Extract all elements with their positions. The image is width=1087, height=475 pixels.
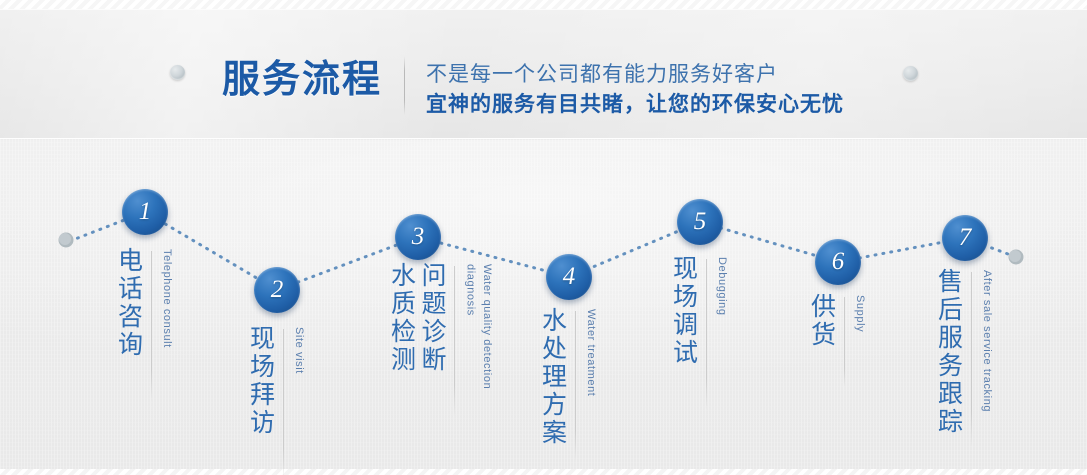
step-cn-col: 现场拜访 — [245, 325, 276, 437]
step-label-cn-4: 水处理方案 — [537, 307, 568, 447]
step-node-5[interactable]: 5 — [677, 199, 723, 245]
step-label-cn-5: 现场调试 — [668, 255, 699, 367]
label-rule — [454, 266, 455, 416]
step-label-4: 水处理方案 Water treatment — [537, 307, 599, 461]
top-edge-line — [0, 9, 1087, 10]
step-number-2: 2 — [271, 276, 284, 304]
step-label-en-7: After sale service tracking — [979, 268, 996, 412]
step-label-cn-3: 问题诊断 水质检测 — [386, 262, 447, 374]
step-label-en-2: Site visit — [291, 325, 308, 374]
step-cn-col: 售后服务跟踪 — [933, 268, 964, 436]
step-label-en-1: Telephone consult — [159, 247, 176, 348]
step-cn-col: 现场调试 — [668, 255, 699, 367]
step-number-1: 1 — [139, 198, 152, 226]
step-label-en-5: Debugging — [714, 255, 731, 316]
label-rule — [706, 259, 707, 409]
header-subtitle-line2: 宜神的服务有目共睹，让您的环保安心无忧 — [426, 88, 844, 118]
step-node-2[interactable]: 2 — [254, 267, 300, 313]
label-rule — [575, 311, 576, 461]
step-label-en-4: Water treatment — [583, 307, 600, 396]
step-number-6: 6 — [832, 248, 845, 276]
step-number-4: 4 — [563, 263, 576, 291]
step-cn-col: 水处理方案 — [537, 307, 568, 447]
header-divider — [404, 56, 405, 115]
step-en-line: Supply — [852, 295, 869, 332]
step-label-5: 现场调试 Debugging — [668, 255, 730, 409]
step-node-1[interactable]: 1 — [122, 189, 168, 235]
step-cn-col: 电话咨询 — [113, 247, 144, 359]
label-rule — [971, 272, 972, 447]
step-label-cn-6: 供货 — [806, 293, 837, 349]
step-node-7[interactable]: 7 — [942, 215, 988, 261]
step-cn-col: 供货 — [806, 293, 837, 349]
label-rule — [844, 297, 845, 387]
page-title: 服务流程 — [222, 48, 382, 103]
step-en-line: Site visit — [291, 327, 308, 374]
step-en-line: Water quality detection — [479, 264, 496, 389]
step-cn-col: 问题诊断 — [417, 262, 448, 374]
step-label-en-6: Supply — [852, 293, 869, 332]
step-label-cn-7: 售后服务跟踪 — [933, 268, 964, 436]
step-label-1: 电话咨询 Telephone consult — [113, 247, 175, 401]
step-cn-col: 水质检测 — [386, 262, 417, 374]
step-en-line: diagnosis — [462, 264, 479, 389]
step-label-6: 供货 Supply — [806, 293, 868, 387]
screw-dot-right — [903, 66, 918, 81]
label-rule — [151, 251, 152, 401]
step-label-2: 现场拜访 Site visit — [245, 325, 307, 475]
screw-dot-left — [170, 65, 185, 80]
step-node-3[interactable]: 3 — [395, 214, 441, 260]
service-process-banner: 服务流程 不是每一个公司都有能力服务好客户 宜神的服务有目共睹，让您的环保安心无… — [0, 0, 1087, 475]
label-rule — [283, 329, 284, 475]
step-node-4[interactable]: 4 — [546, 254, 592, 300]
step-label-cn-2: 现场拜访 — [245, 325, 276, 437]
step-number-7: 7 — [959, 224, 972, 252]
bottom-edge-strip — [0, 469, 1087, 475]
step-en-line: Debugging — [714, 257, 731, 316]
step-number-5: 5 — [694, 208, 707, 236]
step-en-line: Telephone consult — [159, 249, 176, 348]
step-label-3: 问题诊断 水质检测 Water quality detection diagno… — [386, 262, 495, 416]
header-subtitle-line1: 不是每一个公司都有能力服务好客户 — [426, 58, 778, 88]
step-en-line: Water treatment — [583, 309, 600, 396]
step-node-6[interactable]: 6 — [815, 239, 861, 285]
step-label-7: 售后服务跟踪 After sale service tracking — [933, 268, 995, 447]
step-number-3: 3 — [412, 223, 425, 251]
step-en-line: After sale service tracking — [979, 270, 996, 412]
top-edge-strip — [0, 0, 1087, 9]
step-label-en-3: Water quality detection diagnosis — [462, 262, 495, 389]
step-label-cn-1: 电话咨询 — [113, 247, 144, 359]
